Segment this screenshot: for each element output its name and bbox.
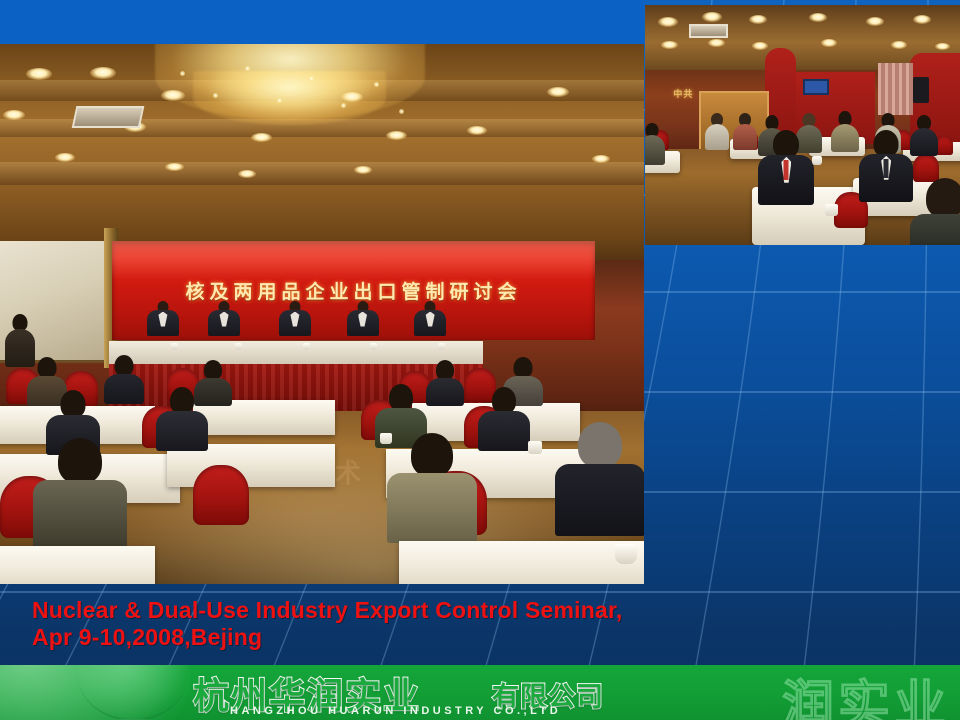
audience-chair <box>193 465 249 525</box>
inset-attendee <box>910 115 938 153</box>
attendees-photo: 中共 <box>645 5 960 245</box>
ceiling-light <box>238 170 256 178</box>
inset-attendee-foreground <box>910 178 960 245</box>
ceiling-light <box>165 163 184 171</box>
inset-attendee <box>733 113 757 147</box>
audience-table-foreground <box>0 546 155 584</box>
tea-cup <box>528 441 542 454</box>
attendee-foreground <box>554 422 644 534</box>
attendee <box>425 360 465 404</box>
attendee-foreground <box>32 438 128 546</box>
tea-cup <box>615 544 637 564</box>
inset-ceiling-vent <box>689 24 728 38</box>
panelist <box>277 301 313 347</box>
ceiling-vent <box>72 106 145 128</box>
inset-attendee <box>705 113 729 147</box>
top-blue-strip <box>0 0 644 44</box>
attendee-foreground <box>386 433 478 541</box>
venue-logo-text: 中共 <box>673 87 693 100</box>
ceiling-light <box>341 92 363 102</box>
inset-attendee-foreground <box>859 130 913 200</box>
company-logo-bar: 润实业 杭州华润实业 有限公司 HANGZHOU HUARUN INDUSTRY… <box>0 665 960 720</box>
audience-table-foreground <box>399 541 644 584</box>
inset-speaker <box>913 77 929 103</box>
inset-curtain <box>878 63 913 116</box>
attendee <box>155 387 209 447</box>
presentation-slide: 核及两用品企业出口管制研讨会 <box>0 0 960 720</box>
tea-cup <box>380 433 392 444</box>
panelist <box>412 301 448 347</box>
ceiling-light <box>467 126 487 135</box>
panelist <box>206 301 242 347</box>
banner-highlight <box>112 241 595 279</box>
ceiling-light <box>161 90 185 101</box>
ceiling-light <box>90 67 116 79</box>
panelist <box>345 301 381 347</box>
inset-tea-cup <box>812 156 822 165</box>
attendee <box>103 355 145 401</box>
inset-tea-cup <box>825 204 838 216</box>
inset-attendee <box>645 123 665 163</box>
company-name-en: HANGZHOU HUARUN INDUSTRY CO.,LTD <box>230 705 561 717</box>
inset-attendee-foreground <box>758 130 814 202</box>
inset-attendee <box>831 111 859 149</box>
ceiling-light <box>592 155 610 163</box>
conference-hall-photo: 核及两用品企业出口管制研讨会 <box>0 44 644 584</box>
panelist <box>145 301 181 347</box>
floor-reflection: 术 <box>335 453 361 490</box>
slide-title-line-1: Nuclear & Dual-Use Industry Export Contr… <box>32 597 752 624</box>
inset-monitor <box>803 79 829 95</box>
slide-title-line-2: Apr 9-10,2008,Bejing <box>32 624 752 651</box>
slide-title: Nuclear & Dual-Use Industry Export Contr… <box>32 597 752 651</box>
attendee <box>477 387 531 447</box>
ceiling-band <box>0 162 644 185</box>
logo-watermark-text: 润实业 <box>782 665 950 720</box>
